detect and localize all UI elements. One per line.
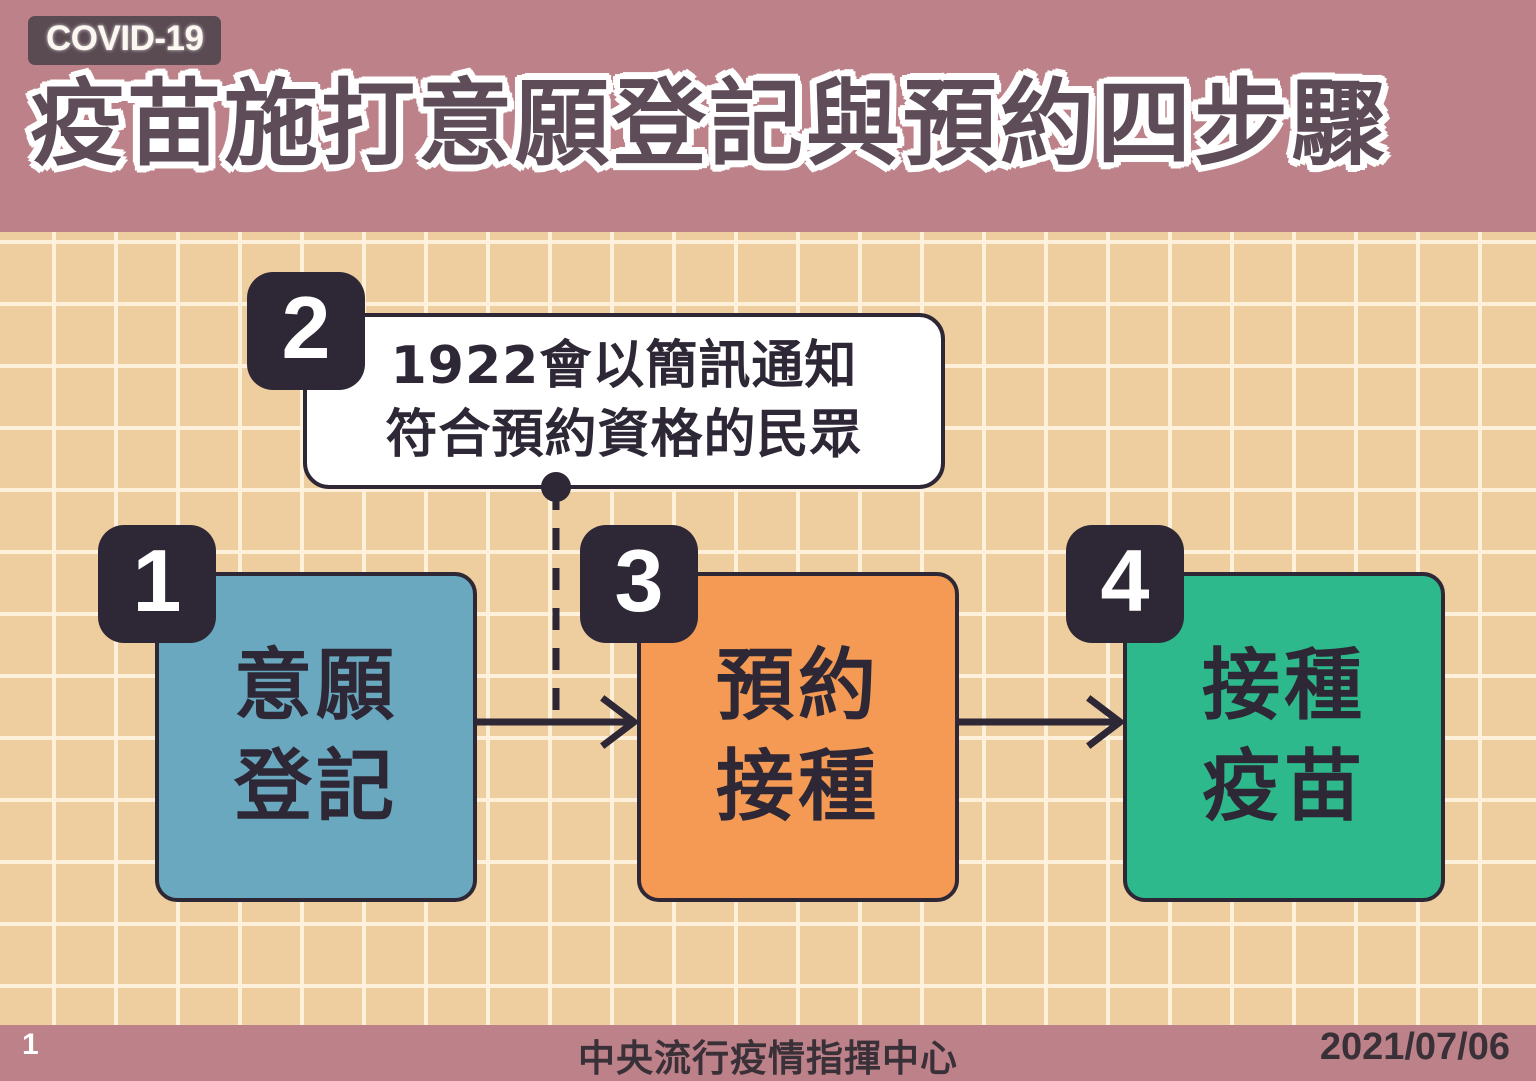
step-box-3-line-2: 接種	[716, 737, 880, 838]
step-badge-3: 3	[580, 525, 698, 643]
step-badge-2: 2	[247, 272, 365, 390]
footer-organization: 中央流行疫情指揮中心	[0, 1028, 1536, 1081]
step-box-4-line-2: 疫苗	[1202, 737, 1366, 838]
page-title: 疫苗施打意願登記與預約四步驟	[30, 76, 1510, 175]
callout-line-2: 符合預約資格的民眾	[385, 401, 862, 470]
step-badge-1: 1	[98, 525, 216, 643]
step-box-3-line-1: 預約	[716, 636, 880, 737]
step-box-1-line-1: 意願	[234, 636, 398, 737]
step-box-1-line-2: 登記	[234, 737, 398, 838]
poster-canvas: COVID-19 疫苗施打意願登記與預約四步驟 2 1922會以簡訊通知 符合預…	[0, 0, 1536, 1081]
covid-19-badge: COVID-19	[28, 16, 221, 65]
footer-date: 2021/07/06	[1320, 1026, 1510, 1069]
step-box-4-line-1: 接種	[1202, 636, 1366, 737]
step-badge-4: 4	[1066, 525, 1184, 643]
callout-bubble-step2: 1922會以簡訊通知 符合預約資格的民眾	[303, 313, 945, 489]
callout-anchor-dot	[541, 472, 571, 502]
callout-line-1: 1922會以簡訊通知	[391, 332, 858, 401]
